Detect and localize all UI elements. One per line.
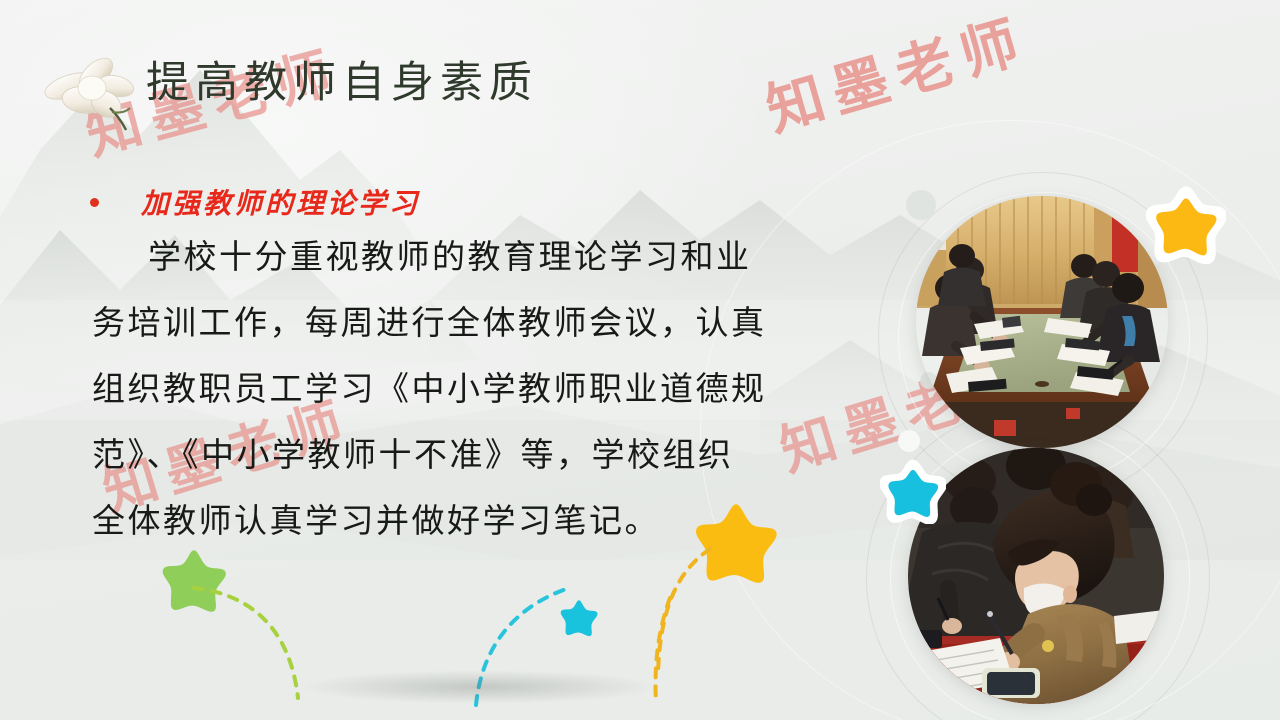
bullet-dot-icon	[90, 198, 99, 207]
body-line-4: 范》、《中小学教师十不准》等，学校组织	[92, 438, 832, 471]
watermark-top-right: 知墨老师	[756, 0, 1036, 147]
magnolia-flower-icon	[38, 52, 146, 136]
body-line-3: 组织教职员工学习《中小学教师职业道德规	[92, 372, 832, 405]
bullet-heading-label: 加强教师的理论学习	[141, 182, 420, 222]
body-line-2: 务培训工作，每周进行全体教师会议，认真	[92, 306, 832, 339]
star-cyan-plain-icon	[558, 596, 600, 638]
body-line-5: 全体教师认真学习并做好学习笔记。	[92, 504, 832, 537]
ground-shadow	[300, 670, 660, 704]
photo-meeting-room-note-taking	[916, 196, 1168, 448]
photo-teacher-writing-notes	[908, 448, 1164, 704]
page-title: 提高教师自身素质	[146, 48, 538, 110]
bullet-heading-row: 加强教师的理论学习	[90, 182, 420, 222]
body-paragraph: 学校十分重视教师的教育理论学习和业 务培训工作，每周进行全体教师会议，认真 组织…	[92, 240, 832, 570]
slide-canvas: 知墨老师 知墨老师 知墨老师 知墨老师	[0, 0, 1280, 720]
body-line-1: 学校十分重视教师的教育理论学习和业	[92, 240, 832, 273]
